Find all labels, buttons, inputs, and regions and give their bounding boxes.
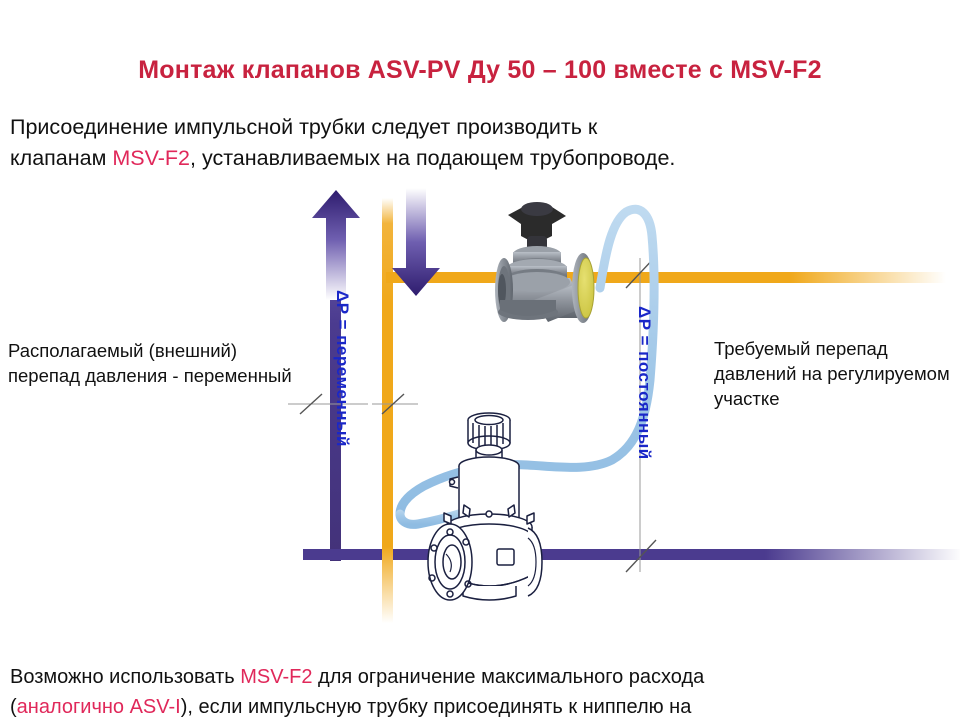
delta-p-constant-label: ΔP = постоянный (634, 306, 654, 460)
slide-canvas: Монтаж клапанов ASV-PV Ду 50 – 100 вмест… (0, 0, 960, 720)
valve-flange-rear (528, 528, 542, 596)
left-caption: Располагаемый (внешний) перепад давления… (8, 338, 308, 388)
bottom-note: Возможно использовать MSV-F2 для огранич… (10, 662, 954, 722)
bottom-note-msv-f2-highlight: MSV-F2 (240, 666, 312, 688)
bottom-note-part1: Возможно использовать (10, 666, 240, 688)
bottom-note-asv-i-highlight: аналогично ASV-I (17, 696, 181, 718)
valve-flange-front (428, 524, 472, 600)
asv-pv-differential-pressure-controller (428, 413, 542, 600)
right-caption: Требуемый перепад давлений на регулируем… (714, 336, 954, 411)
bottom-note-part4: ), если импульсную трубку присоединять к… (181, 696, 692, 718)
bottom-note-part2: для ограничение максимального расхода (312, 666, 704, 688)
delta-p-variable-label: ΔP = переменный (332, 290, 352, 447)
msv-f2-balancing-valve (495, 202, 594, 323)
valve-flange-right-yellow-cap (572, 253, 594, 323)
setting-knob-icon (468, 413, 510, 463)
bottom-note-part3: ( (10, 696, 17, 718)
flow-arrow-up (312, 190, 360, 300)
